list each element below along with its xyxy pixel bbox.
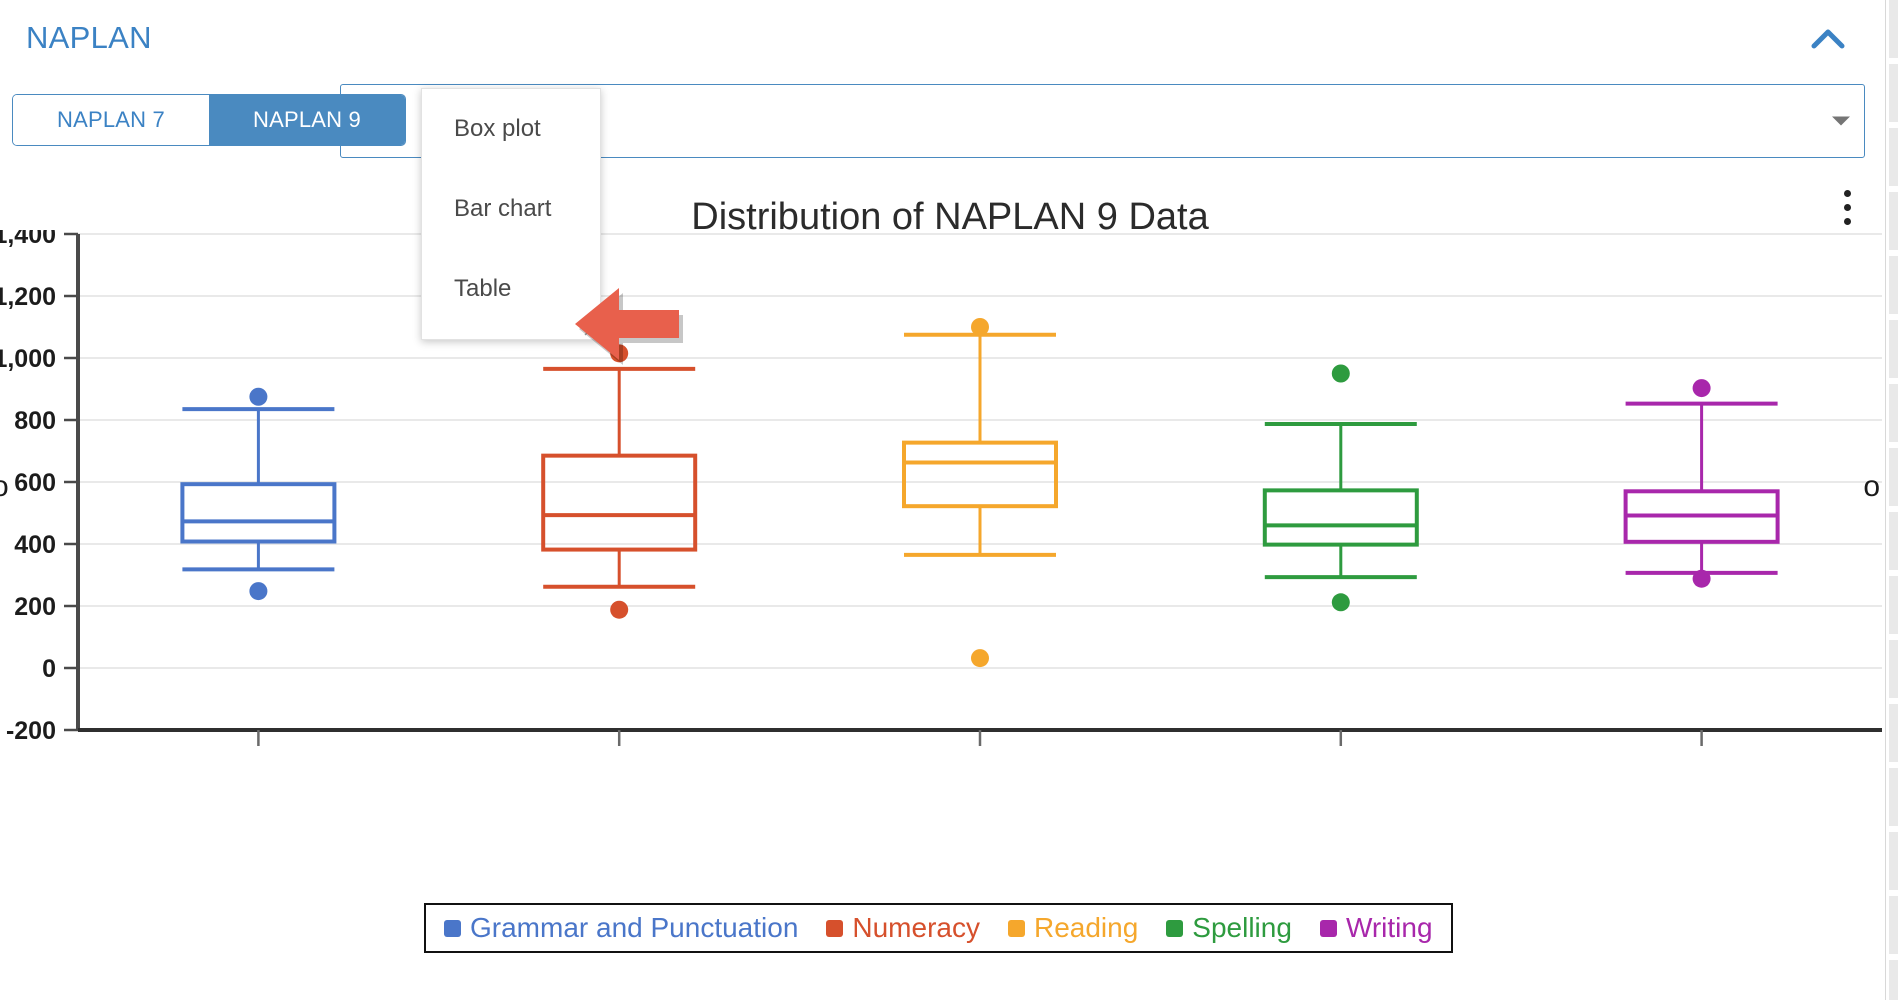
legend-item[interactable]: Grammar and Punctuation bbox=[444, 912, 798, 944]
legend-label: Writing bbox=[1346, 912, 1433, 944]
box-plot-series[interactable] bbox=[1265, 365, 1417, 612]
outlier-point[interactable] bbox=[971, 318, 989, 336]
y-axis-tick-label: 1,200 bbox=[0, 283, 56, 311]
box-iqr[interactable] bbox=[543, 456, 695, 550]
page-title: NAPLAN bbox=[26, 20, 152, 56]
y-axis-tick-label: 200 bbox=[14, 593, 56, 621]
outlier-point[interactable] bbox=[1693, 570, 1711, 588]
y-axis-tick-label: 1,000 bbox=[0, 345, 56, 373]
outlier-point[interactable] bbox=[971, 649, 989, 667]
chart-type-menu[interactable]: Box plot Bar chart Table bbox=[421, 88, 601, 340]
legend-label: Grammar and Punctuation bbox=[470, 912, 798, 944]
legend-label: Reading bbox=[1034, 912, 1138, 944]
more-vertical-icon[interactable] bbox=[1834, 190, 1860, 236]
vertical-scrollbar[interactable] bbox=[1885, 0, 1900, 1000]
outlier-point[interactable] bbox=[1332, 365, 1350, 383]
legend-item[interactable]: Numeracy bbox=[826, 912, 980, 944]
legend-swatch-icon bbox=[1008, 920, 1025, 937]
legend-item[interactable]: Reading bbox=[1008, 912, 1138, 944]
scrollbar-thumb[interactable] bbox=[1889, 0, 1898, 1000]
outlier-point[interactable] bbox=[1693, 379, 1711, 397]
y-axis-tick-label: 800 bbox=[14, 407, 56, 435]
outlier-point[interactable] bbox=[249, 388, 267, 406]
legend-item[interactable]: Writing bbox=[1320, 912, 1433, 944]
outlier-point[interactable] bbox=[610, 601, 628, 619]
naplan-year-toggle[interactable]: NAPLAN 7 NAPLAN 9 bbox=[12, 94, 406, 146]
legend-swatch-icon bbox=[444, 920, 461, 937]
y-axis-tick-label: 0 bbox=[42, 655, 56, 683]
chart-title: Distribution of NAPLAN 9 Data bbox=[0, 196, 1900, 239]
menu-item-table[interactable]: Table bbox=[422, 249, 600, 329]
box-plot-series[interactable] bbox=[904, 318, 1056, 667]
legend-swatch-icon bbox=[826, 920, 843, 937]
tab-naplan-7[interactable]: NAPLAN 7 bbox=[13, 95, 209, 145]
box-plot-series[interactable] bbox=[1626, 379, 1778, 588]
outlier-point[interactable] bbox=[610, 344, 628, 362]
legend-item[interactable]: Spelling bbox=[1166, 912, 1292, 944]
legend-label: Numeracy bbox=[852, 912, 980, 944]
menu-item-bar-chart[interactable]: Bar chart bbox=[422, 169, 600, 249]
y-axis-tick-label: 600 bbox=[14, 469, 56, 497]
tab-naplan-9[interactable]: NAPLAN 9 bbox=[209, 95, 405, 145]
resize-grip-icon[interactable] bbox=[580, 320, 596, 336]
legend-swatch-icon bbox=[1166, 920, 1183, 937]
y-axis-tick-label: -200 bbox=[6, 717, 56, 745]
y-axis-label-clipped: o bbox=[0, 470, 9, 504]
chevron-down-icon[interactable] bbox=[1832, 117, 1850, 126]
box-iqr[interactable] bbox=[904, 443, 1056, 507]
menu-item-box-plot[interactable]: Box plot bbox=[422, 89, 600, 169]
legend-swatch-icon bbox=[1320, 920, 1337, 937]
outlier-point[interactable] bbox=[1332, 593, 1350, 611]
box-iqr[interactable] bbox=[1265, 490, 1417, 544]
chevron-up-icon[interactable] bbox=[1808, 22, 1848, 56]
y-axis-tick-label: 400 bbox=[14, 531, 56, 559]
box-plot-chart: 1,4001,2001,0008006004002000-200 bbox=[0, 230, 1900, 910]
chart-legend: Grammar and PunctuationNumeracyReadingSp… bbox=[424, 903, 1453, 953]
naplan-panel: NAPLAN NAPLAN 7 NAPLAN 9 Distribution of… bbox=[0, 0, 1900, 1000]
legend-label: Spelling bbox=[1192, 912, 1292, 944]
box-iqr[interactable] bbox=[182, 484, 334, 541]
outlier-point[interactable] bbox=[249, 582, 267, 600]
right-edge-glyph-clipped: o bbox=[1863, 470, 1880, 504]
